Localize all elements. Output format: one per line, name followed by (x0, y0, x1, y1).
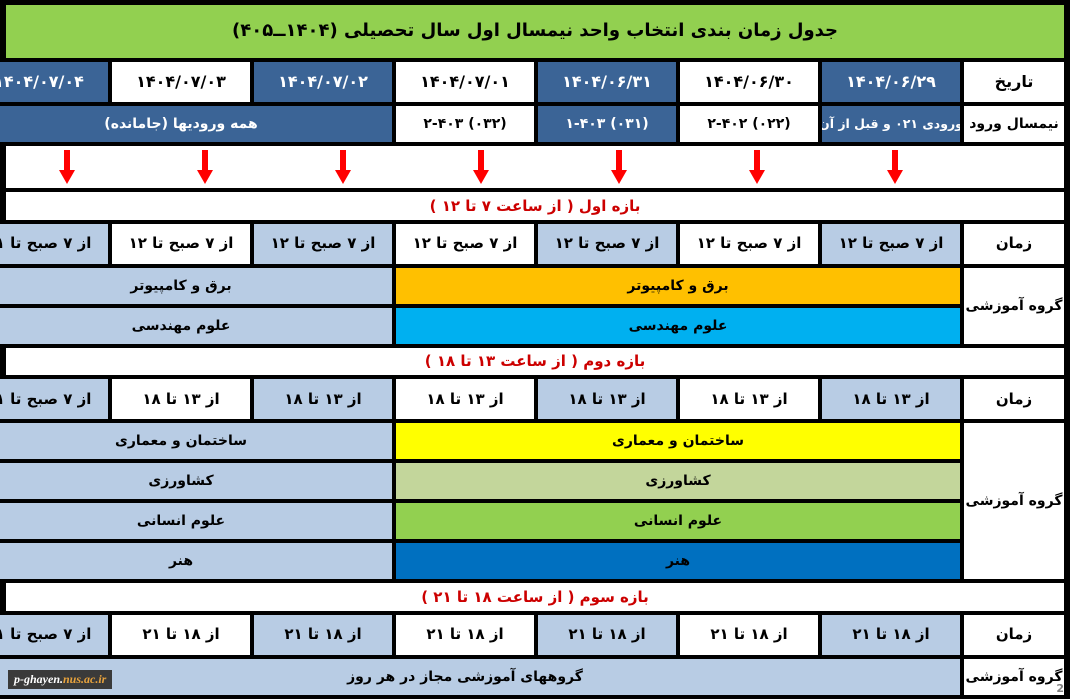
down-arrow-icon (332, 150, 354, 184)
band-2-time-cell-4: از ۱۳ تا ۱۸ (396, 379, 534, 419)
band-1-time-cell-1: از ۷ صبح تا ۱۲ (822, 224, 960, 264)
band-3-time-cell-1: از ۱۸ تا ۲۱ (822, 615, 960, 655)
band-1-group-header-stack: گروه آموزشی (964, 268, 1064, 344)
page-title: جدول زمان بندی انتخاب واحد نیمسال اول سا… (6, 5, 1064, 58)
band-2-group-colored-2: کشاورزی (396, 463, 960, 499)
date-row: تاریخ ۱۴۰۴/۰۶/۲۹ ۱۴۰۴/۰۶/۳۰ ۱۴۰۴/۰۶/۳۱ ۱… (6, 62, 1064, 102)
entry-semester-cell-1: ورودی ۰۲۱ و قبل از آن (822, 106, 960, 142)
date-row-header: تاریخ (964, 62, 1064, 102)
band-2-group-header-stack: گروه آموزشی (964, 423, 1064, 579)
band-1-group-colored-2: علوم مهندسی (396, 308, 960, 344)
band-2-time-cell-7: از ۷ صبح تا ۲۱ (0, 379, 108, 419)
band-2-group-header: گروه آموزشی (964, 423, 1064, 579)
band-1-label: بازه اول ( از ساعت ۷ تا ۱۲ ) (6, 192, 1064, 220)
band-2-group-plain-2: کشاورزی (0, 463, 392, 499)
entry-semester-cell-5: همه ورودیها (جامانده) (0, 106, 392, 142)
band-1-time-cell-5: از ۷ صبح تا ۱۲ (254, 224, 392, 264)
date-cell-6: ۱۴۰۴/۰۷/۰۳ (112, 62, 250, 102)
down-arrow-icon (194, 150, 216, 184)
band-1-group-block: گروه آموزشی برق و کامپیوتر برق و کامپیوت… (6, 268, 1064, 344)
entry-semester-row-header: نیمسال ورود (964, 106, 1064, 142)
arrow-cell-5 (274, 150, 412, 184)
band-1-group-plain-1: برق و کامپیوتر (0, 268, 392, 304)
band-1-time-cell-3: از ۷ صبح تا ۱۲ (538, 224, 676, 264)
arrow-cell-4 (412, 150, 550, 184)
band-1-time-cell-2: از ۷ صبح تا ۱۲ (680, 224, 818, 264)
watermark-domain: nus.ac.ir (63, 672, 106, 686)
band-2-time-cell-6: از ۱۳ تا ۱۸ (112, 379, 250, 419)
entry-semester-cell-2: (۰۲۲) ۲-۴۰۲ (680, 106, 818, 142)
page-number: 2 (1056, 682, 1064, 695)
site-watermark: p-ghayen.nus.ac.ir (8, 670, 112, 689)
arrow-cell-2 (688, 150, 826, 184)
band-1-time-cell-4: از ۷ صبح تا ۱۲ (396, 224, 534, 264)
band-2-time-row: زمان از ۱۳ تا ۱۸ از ۱۳ تا ۱۸ از ۱۳ تا ۱۸… (6, 379, 1064, 419)
schedule-page: جدول زمان بندی انتخاب واحد نیمسال اول سا… (0, 0, 1070, 699)
date-cell-2: ۱۴۰۴/۰۶/۳۰ (680, 62, 818, 102)
arrow-row (6, 146, 1064, 188)
entry-semester-row: نیمسال ورود ورودی ۰۲۱ و قبل از آن (۰۲۲) … (6, 106, 1064, 142)
band-3-time-cell-7: از ۷ صبح تا ۲۱ (0, 615, 108, 655)
date-cell-3: ۱۴۰۴/۰۶/۳۱ (538, 62, 676, 102)
arrow-cell-6 (136, 150, 274, 184)
down-arrow-icon (746, 150, 768, 184)
band-3-all-groups-note: گروههای آموزشی مجاز در هر روز (0, 659, 960, 695)
band-1-group-row-1: برق و کامپیوتر برق و کامپیوتر (0, 268, 960, 304)
band-3-time-cell-3: از ۱۸ تا ۲۱ (538, 615, 676, 655)
band-3-time-cell-5: از ۱۸ تا ۲۱ (254, 615, 392, 655)
band-2-group-colored-4: هنر (396, 543, 960, 579)
band-1-group-header: گروه آموزشی (964, 268, 1064, 344)
band-2-group-plain-1: ساختمان و معماری (0, 423, 392, 459)
band-2-group-rows: ساختمان و معماری ساختمان و معماری کشاورز… (0, 423, 960, 579)
arrow-cell-7 (0, 150, 136, 184)
band-2-group-row-4: هنر هنر (0, 543, 960, 579)
band-2-time-cell-2: از ۱۳ تا ۱۸ (680, 379, 818, 419)
watermark-prefix: p-ghayen. (14, 672, 63, 686)
band-3-time-cell-2: از ۱۸ تا ۲۱ (680, 615, 818, 655)
band-3-label: بازه سوم ( از ساعت ۱۸ تا ۲۱ ) (6, 583, 1064, 611)
down-arrow-icon (608, 150, 630, 184)
down-arrow-icon (884, 150, 906, 184)
down-arrow-icon (470, 150, 492, 184)
band-1-group-rows: برق و کامپیوتر برق و کامپیوتر علوم مهندس… (0, 268, 960, 344)
band-2-group-colored-1: ساختمان و معماری (396, 423, 960, 459)
band-2-time-header: زمان (964, 379, 1064, 419)
date-cell-5: ۱۴۰۴/۰۷/۰۲ (254, 62, 392, 102)
band-3-group-row: گروه آموزشی گروههای آموزشی مجاز در هر رو… (6, 659, 1064, 695)
band-2-time-cell-5: از ۱۳ تا ۱۸ (254, 379, 392, 419)
band-3-time-cell-6: از ۱۸ تا ۲۱ (112, 615, 250, 655)
band-2-group-colored-3: علوم انسانی (396, 503, 960, 539)
band-3-time-cell-4: از ۱۸ تا ۲۱ (396, 615, 534, 655)
band-2-group-row-3: علوم انسانی علوم انسانی (0, 503, 960, 539)
band-2-group-plain-4: هنر (0, 543, 392, 579)
band-1-group-row-2: علوم مهندسی علوم مهندسی (0, 308, 960, 344)
band-2-time-cell-3: از ۱۳ تا ۱۸ (538, 379, 676, 419)
date-cell-1: ۱۴۰۴/۰۶/۲۹ (822, 62, 960, 102)
date-cell-4: ۱۴۰۴/۰۷/۰۱ (396, 62, 534, 102)
band-2-label: بازه دوم ( از ساعت ۱۳ تا ۱۸ ) (6, 348, 1064, 376)
schedule-table: جدول زمان بندی انتخاب واحد نیمسال اول سا… (0, 0, 1070, 699)
band-1-time-header: زمان (964, 224, 1064, 264)
entry-semester-cell-4: (۰۳۲) ۲-۴۰۳ (396, 106, 534, 142)
down-arrow-icon (56, 150, 78, 184)
band-3-group-header: گروه آموزشی (964, 659, 1064, 695)
band-1-group-colored-1: برق و کامپیوتر (396, 268, 960, 304)
band-2-time-cell-1: از ۱۳ تا ۱۸ (822, 379, 960, 419)
band-3-time-header: زمان (964, 615, 1064, 655)
band-1-time-cell-7: از ۷ صبح تا ۲۱ (0, 224, 108, 264)
band-2-group-row-2: کشاورزی کشاورزی (0, 463, 960, 499)
arrow-cell-3 (550, 150, 688, 184)
band-2-group-row-1: ساختمان و معماری ساختمان و معماری (0, 423, 960, 459)
band-2-group-plain-3: علوم انسانی (0, 503, 392, 539)
band-2-group-block: گروه آموزشی ساختمان و معماری ساختمان و م… (6, 423, 1064, 579)
band-1-group-plain-2: علوم مهندسی (0, 308, 392, 344)
band-1-time-row: زمان از ۷ صبح تا ۱۲ از ۷ صبح تا ۱۲ از ۷ … (6, 224, 1064, 264)
date-cell-7: ۱۴۰۴/۰۷/۰۴ (0, 62, 108, 102)
band-3-time-row: زمان از ۱۸ تا ۲۱ از ۱۸ تا ۲۱ از ۱۸ تا ۲۱… (6, 615, 1064, 655)
entry-semester-cell-3: (۰۳۱) ۱-۴۰۳ (538, 106, 676, 142)
band-1-time-cell-6: از ۷ صبح تا ۱۲ (112, 224, 250, 264)
arrow-cell-1 (826, 150, 964, 184)
